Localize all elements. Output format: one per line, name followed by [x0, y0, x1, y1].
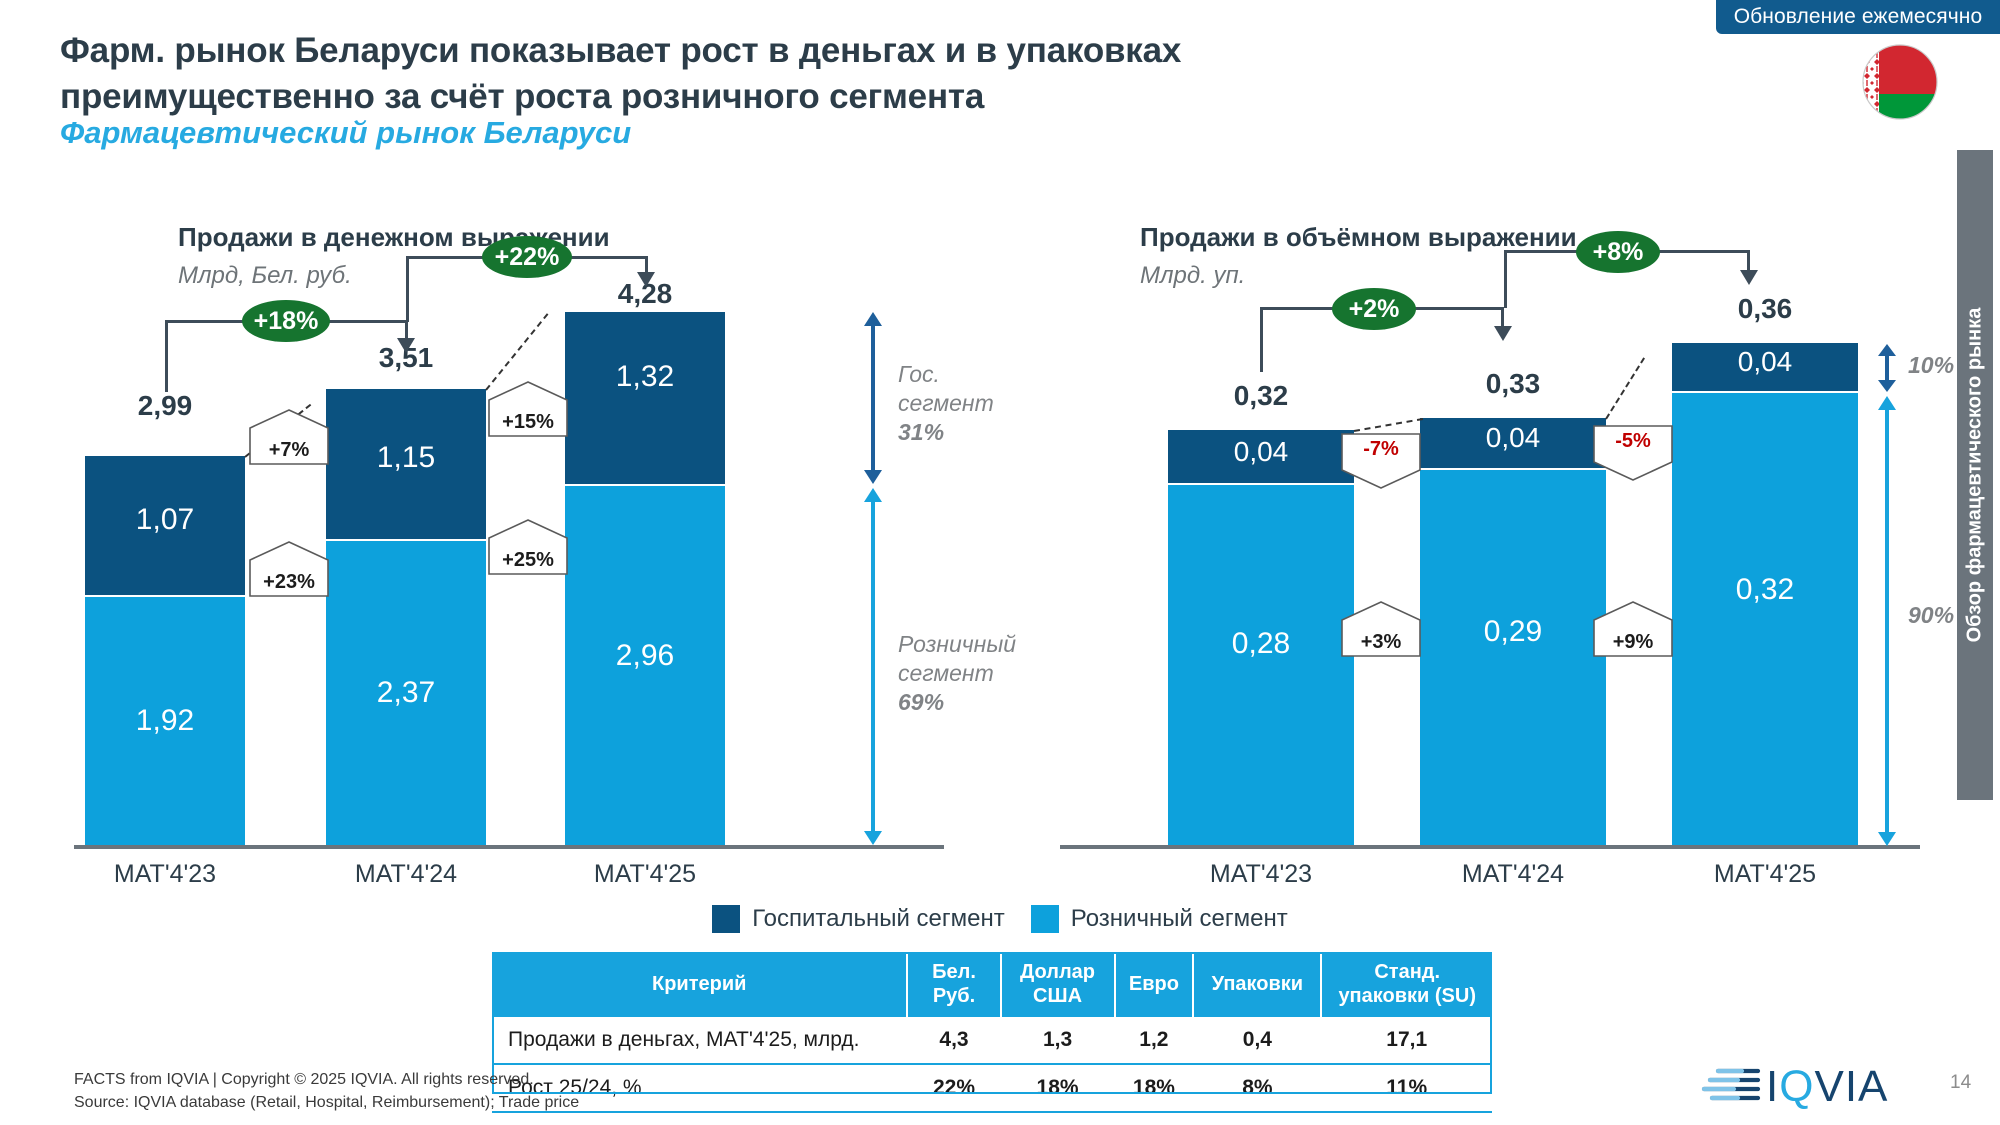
table-header-eur: Евро — [1115, 952, 1194, 1017]
left-growth-22-barR — [566, 256, 648, 259]
left-ret-note-pct: 69% — [898, 688, 1068, 717]
left-cat-2023: MAT'4'23 — [65, 860, 265, 889]
right-growth-2-leftstem — [1260, 307, 1263, 372]
left-ret-span-arrow — [862, 488, 884, 850]
right-bar-2025-retail-label: 0,32 — [1672, 573, 1858, 607]
table-cell-usd: 18% — [1001, 1064, 1115, 1112]
right-ret-growth-24-25-label: +9% — [1592, 600, 1674, 658]
left-growth-22-leftstem — [406, 256, 409, 322]
legend-swatch-hospital — [712, 905, 740, 933]
table-header-byn-line2: Руб. — [914, 985, 993, 1009]
left-gov-span-arrow — [862, 312, 884, 489]
page-title-line-1: Фарм. рынок Беларуси показывает рост в д… — [60, 28, 1700, 74]
table-cell-byn: 22% — [907, 1064, 1000, 1112]
table-cell-units: 8% — [1193, 1064, 1321, 1112]
legend-label-hospital: Госпитальный сегмент — [752, 905, 1005, 933]
legend-label-retail: Розничный сегмент — [1071, 905, 1288, 933]
left-ret-note: Розничный сегмент 69% — [898, 630, 1068, 716]
right-bar-2024-total: 0,33 — [1420, 368, 1606, 400]
table-header-su-line1: Станд. — [1328, 961, 1486, 985]
table-header-usd-line1: Доллар — [1008, 961, 1108, 985]
left-bar-2023-retail-label: 1,92 — [85, 704, 245, 738]
right-bar-2025[interactable]: 0,04 0,32 — [1672, 343, 1858, 845]
right-ret-pct-note: 90% — [1908, 602, 1954, 629]
right-cat-2025: MAT'4'25 — [1662, 860, 1868, 889]
left-chart-subtitle: Млрд, Бел. руб. — [178, 262, 352, 290]
legend-swatch-retail — [1031, 905, 1059, 933]
right-chart-axis — [1060, 845, 1920, 849]
left-growth-18-leftstem — [165, 320, 168, 392]
left-cat-2024: MAT'4'24 — [306, 860, 506, 889]
table-cell-su: 17,1 — [1321, 1017, 1492, 1064]
left-gov-note: Гос. сегмент 31% — [898, 360, 1048, 446]
right-bar-2023-total: 0,32 — [1168, 380, 1354, 412]
right-ret-span-arrow — [1876, 396, 1898, 851]
table-cell-su: 11% — [1321, 1064, 1492, 1112]
update-frequency-text: Обновление ежемесячно — [1734, 5, 1983, 29]
right-gov-pct-note: 10% — [1908, 352, 1954, 379]
right-bar-2023-retail-label: 0,28 — [1168, 627, 1354, 661]
right-cat-2024: MAT'4'24 — [1410, 860, 1616, 889]
left-chart-axis — [74, 845, 944, 849]
left-gov-growth-24-25: +15% — [487, 380, 569, 438]
table-header-usd-line2: США — [1008, 985, 1108, 1009]
left-bar-2023-gov-label: 1,07 — [85, 503, 245, 537]
left-bar-2023[interactable]: 1,07 1,92 — [85, 456, 245, 845]
right-dashed-24-25 — [1605, 357, 1645, 419]
left-bar-2024-retail: 2,37 — [326, 539, 486, 845]
legend-item-hospital: Госпитальный сегмент — [712, 905, 1005, 933]
section-tab-label: Обзор фармацевтического рынка — [1964, 308, 1987, 643]
right-growth-pill-8-label: +8% — [1593, 238, 1644, 267]
right-growth-8-arrow — [1740, 270, 1758, 285]
left-growth-22-arrow — [637, 272, 655, 287]
belarus-flag-icon — [1862, 44, 1938, 120]
right-bar-2023-gov-label: 0,04 — [1168, 436, 1354, 468]
left-bar-2024-gov: 1,15 — [326, 389, 486, 539]
right-gov-growth-24-25: -5% — [1592, 424, 1674, 482]
page-subtitle: Фармацевтический рынок Беларуси — [60, 115, 631, 151]
right-chart-subtitle: Млрд. уп. — [1140, 262, 1245, 290]
table-cell-criterion: Продажи в деньгах, MAT'4'25, млрд. — [492, 1017, 907, 1064]
table-cell-units: 0,4 — [1193, 1017, 1321, 1064]
left-growth-18-arrow — [397, 338, 415, 353]
table-header-byn: Бел. Руб. — [907, 952, 1000, 1017]
footer-source: FACTS from IQVIA | Copyright © 2025 IQVI… — [74, 1068, 579, 1114]
left-bar-2025-gov-label: 1,32 — [565, 360, 725, 394]
left-gov-growth-23-24: +7% — [248, 408, 330, 466]
right-growth-pill-2-label: +2% — [1349, 295, 1400, 324]
left-ret-note-line2: сегмент — [898, 659, 1068, 688]
footer-copyright: FACTS from IQVIA | Copyright © 2025 IQVI… — [74, 1068, 579, 1091]
left-gov-growth-24-25-label: +15% — [487, 380, 569, 438]
table-header-usd: Доллар США — [1001, 952, 1115, 1017]
right-gov-growth-24-25-label: -5% — [1592, 424, 1674, 482]
right-gov-growth-23-24-label: -7% — [1340, 432, 1422, 490]
right-bar-2025-gov-label: 0,04 — [1672, 346, 1858, 378]
left-ret-growth-23-24: +23% — [248, 540, 330, 598]
right-growth-2-arrow — [1494, 326, 1512, 341]
left-growth-18-barR — [325, 320, 408, 323]
right-bar-2023-gov: 0,04 — [1168, 430, 1354, 483]
right-bar-2025-retail: 0,32 — [1672, 391, 1858, 845]
left-bar-2025[interactable]: 1,32 2,96 — [565, 312, 725, 845]
left-gov-note-line2: сегмент — [898, 389, 1048, 418]
table-header-criterion: Критерий — [492, 952, 907, 1017]
left-growth-pill-22: +22% — [482, 236, 572, 278]
left-ret-note-line1: Розничный — [898, 630, 1068, 659]
left-bar-2025-retail: 2,96 — [565, 484, 725, 845]
left-ret-growth-24-25-label: +25% — [487, 518, 569, 576]
right-ret-growth-23-24-label: +3% — [1340, 600, 1422, 658]
left-bar-2025-gov: 1,32 — [565, 312, 725, 484]
right-bar-2024-gov-label: 0,04 — [1420, 422, 1606, 454]
left-growth-pill-18: +18% — [242, 300, 330, 342]
right-bar-2024-gov: 0,04 — [1420, 418, 1606, 468]
table-cell-byn: 4,3 — [907, 1017, 1000, 1064]
left-bar-2023-total: 2,99 — [85, 390, 245, 422]
right-bar-2025-total: 0,36 — [1672, 293, 1858, 325]
left-gov-note-pct: 31% — [898, 418, 1048, 447]
table-cell-eur: 1,2 — [1115, 1017, 1194, 1064]
left-bar-2025-retail-label: 2,96 — [565, 639, 725, 673]
table-row: Продажи в деньгах, MAT'4'25, млрд. 4,3 1… — [492, 1017, 1492, 1064]
left-gov-growth-23-24-label: +7% — [248, 408, 330, 466]
footer-source-line: Source: IQVIA database (Retail, Hospital… — [74, 1091, 579, 1114]
section-tab-market-overview[interactable]: Обзор фармацевтического рынка — [1957, 150, 1993, 800]
svg-text:IQVIA: IQVIA — [1766, 1062, 1888, 1111]
left-gov-note-line1: Гос. — [898, 360, 1048, 389]
right-growth-8-leftstem — [1504, 250, 1507, 308]
right-growth-8-barR — [1658, 250, 1750, 253]
right-gov-span-arrow — [1876, 344, 1898, 397]
update-frequency-badge: Обновление ежемесячно — [1716, 0, 2000, 34]
slide-root: Обновление ежемесячно Обзор фарма — [0, 0, 2000, 1125]
left-growth-pill-22-label: +22% — [495, 243, 560, 272]
right-growth-pill-2: +2% — [1332, 288, 1416, 330]
left-growth-pill-18-label: +18% — [254, 307, 319, 336]
page-title: Фарм. рынок Беларуси показывает рост в д… — [60, 28, 1700, 120]
table-header-units: Упаковки — [1193, 952, 1321, 1017]
left-ret-growth-23-24-label: +23% — [248, 540, 330, 598]
legend-item-retail: Розничный сегмент — [1031, 905, 1288, 933]
page-number: 14 — [1950, 1072, 1971, 1094]
summary-table: Критерий Бел. Руб. Доллар США Евро Упако… — [492, 952, 1492, 1113]
left-ret-growth-24-25: +25% — [487, 518, 569, 576]
page-title-line-2: преимущественно за счёт роста розничного… — [60, 74, 1700, 120]
table-header-row: Критерий Бел. Руб. Доллар США Евро Упако… — [492, 952, 1492, 1017]
left-bar-2024-retail-label: 2,37 — [326, 676, 486, 710]
table-row: Рост 25/24, % 22% 18% 18% 8% 11% — [492, 1064, 1492, 1112]
table-header-su: Станд. упаковки (SU) — [1321, 952, 1492, 1017]
right-growth-pill-8: +8% — [1576, 231, 1660, 273]
right-growth-2-barR — [1414, 307, 1504, 310]
table-cell-eur: 18% — [1115, 1064, 1194, 1112]
right-gov-growth-23-24: -7% — [1340, 432, 1422, 490]
table-header-su-line2: упаковки (SU) — [1328, 985, 1486, 1009]
table-cell-usd: 1,3 — [1001, 1017, 1115, 1064]
left-bar-2024[interactable]: 1,15 2,37 — [326, 389, 486, 845]
right-bar-2024-retail-label: 0,29 — [1420, 615, 1606, 649]
left-bar-2023-gov: 1,07 — [85, 456, 245, 595]
left-cat-2025: MAT'4'25 — [545, 860, 745, 889]
right-chart-title: Продажи в объёмном выражении — [1140, 222, 1577, 253]
right-dashed-23-24 — [1354, 418, 1423, 432]
right-bar-2025-gov: 0,04 — [1672, 343, 1858, 391]
right-bar-2023-retail: 0,28 — [1168, 483, 1354, 845]
right-cat-2023: MAT'4'23 — [1158, 860, 1364, 889]
chart-legend: Госпитальный сегмент Розничный сегмент — [0, 905, 2000, 933]
right-bar-2023[interactable]: 0,04 0,28 — [1168, 430, 1354, 845]
right-bar-2024[interactable]: 0,04 0,29 — [1420, 418, 1606, 845]
right-ret-growth-24-25: +9% — [1592, 600, 1674, 658]
right-bar-2024-retail: 0,29 — [1420, 468, 1606, 845]
right-ret-growth-23-24: +3% — [1340, 600, 1422, 658]
left-bar-2023-retail: 1,92 — [85, 595, 245, 845]
left-bar-2024-gov-label: 1,15 — [326, 441, 486, 475]
iqvia-logo: IQVIA — [1700, 1055, 1910, 1122]
table-header-byn-line1: Бел. — [914, 961, 993, 985]
